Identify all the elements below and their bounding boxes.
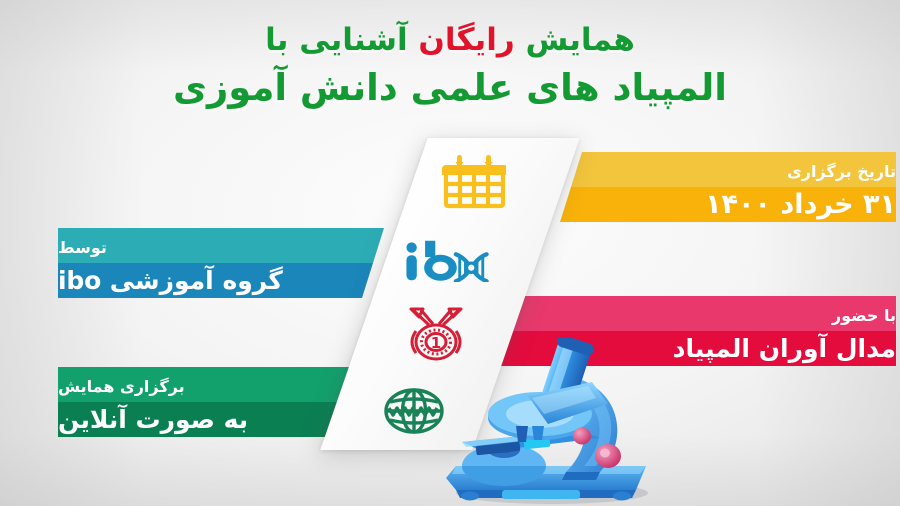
row-date-bar[interactable]: تاریخ برگزاری ۳۱ خرداد ۱۴۰۰	[560, 152, 896, 222]
row-mode-bar[interactable]: برگزاری همایش به صورت آنلاین	[58, 367, 364, 437]
title-word-intro: آشنایی با	[265, 22, 407, 58]
row-guests-label: با حضور	[492, 296, 896, 331]
row-organizer-value: گروه آموزشی ibo	[58, 263, 384, 298]
row-mode-label: برگزاری همایش	[58, 367, 364, 402]
microscope-illustration	[432, 338, 664, 506]
calendar-icon	[424, 150, 524, 212]
row-organizer-label: توسط	[58, 228, 384, 263]
title-word-hamayesh: همایش	[525, 22, 634, 58]
ibo-logo-icon	[402, 230, 502, 292]
title-line-2: المپیاد های علمی دانش آموزی	[0, 64, 900, 112]
row-organizer-bar[interactable]: توسط گروه آموزشی ibo	[58, 228, 384, 298]
poster-canvas: همایش رایگان آشنایی با المپیاد های علمی …	[0, 0, 900, 506]
title-line-1: همایش رایگان آشنایی با	[0, 20, 900, 61]
row-date-label: تاریخ برگزاری	[560, 152, 896, 187]
title-word-free-highlight: رایگان	[418, 22, 514, 58]
poster-title: همایش رایگان آشنایی با المپیاد های علمی …	[0, 20, 900, 112]
row-date-value: ۳۱ خرداد ۱۴۰۰	[560, 187, 896, 222]
row-mode-value: به صورت آنلاین	[58, 402, 364, 437]
